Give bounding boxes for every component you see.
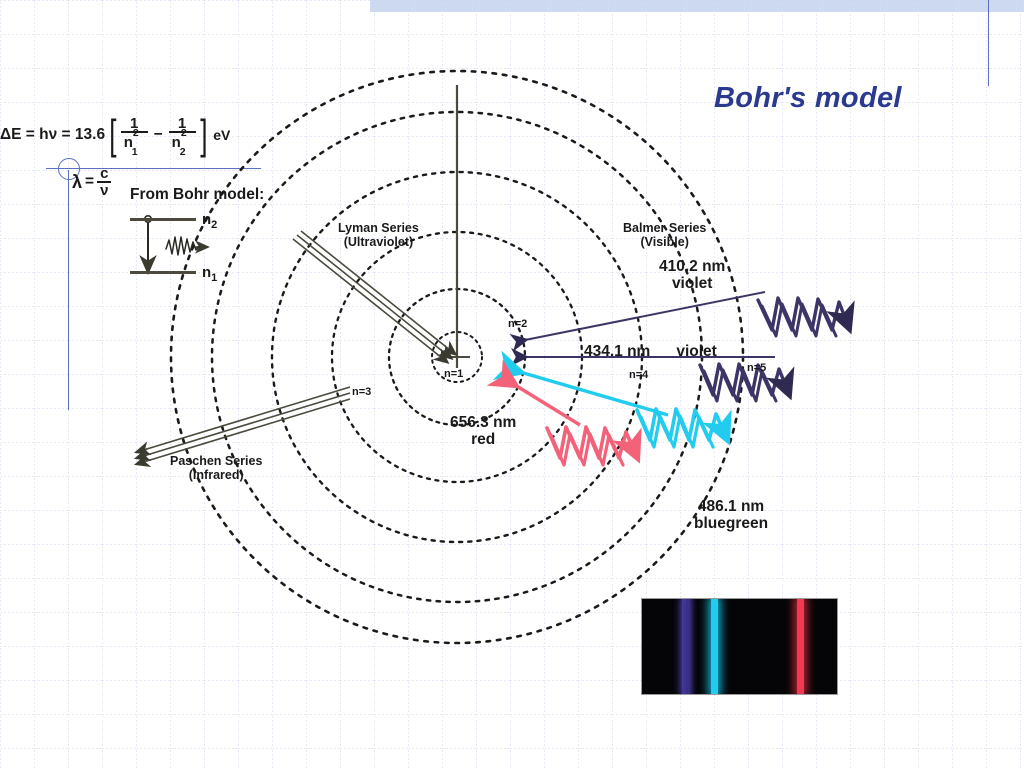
- hydrogen-emission-spectrum: [641, 598, 838, 695]
- minus-operator: −: [150, 126, 167, 144]
- transition-line-410: [525, 292, 765, 340]
- energy-equation: ΔE = hν = 13.6 [ 1 n21 − 1 n22 ] eV: [0, 116, 230, 154]
- photon-wave-656: [547, 427, 637, 465]
- series-label-lyman-paren: (Ultraviolet): [338, 235, 419, 249]
- bohr-formula-block: From Bohr model:: [108, 186, 398, 376]
- series-label-lyman-name: Lyman Series: [338, 221, 419, 235]
- series-label-paschen-paren: (Infrared): [170, 468, 262, 482]
- transition-line-656: [515, 385, 580, 425]
- level-line-lower: [130, 271, 196, 274]
- spectrum-line-red: [797, 599, 804, 694]
- slide-canvas: Bohr's model From Bohr model: n2 n1 ΔE =…: [0, 0, 1024, 768]
- level-label-n1: n1: [202, 264, 217, 284]
- level-label-n2-base: n: [202, 211, 211, 228]
- transition-label-410: 410.2 nm violet: [659, 258, 725, 293]
- lambda-denominator: ν: [97, 181, 111, 198]
- transition-label-434: 434.1 nmviolet: [584, 343, 717, 360]
- spectrum-line-indigo: [686, 599, 690, 694]
- photon-wave-410: [758, 298, 849, 336]
- paschen-series-arrows: [137, 387, 350, 464]
- lambda-symbol: λ: [72, 172, 82, 193]
- orbit-label-n5: n=5: [747, 362, 766, 374]
- series-label-paschen: Paschen Series (Infrared): [170, 454, 262, 482]
- series-label-lyman: Lyman Series (Ultraviolet): [338, 221, 419, 249]
- transition-label-486: 486.1 nm bluegreen: [694, 498, 768, 533]
- term-1-fraction: 1 n21: [121, 116, 148, 154]
- lambda-equals: =: [85, 173, 94, 191]
- series-label-balmer: Balmer Series (Visible): [623, 221, 706, 249]
- orbit-label-n1: n=1: [444, 368, 463, 380]
- series-label-balmer-paren: (Visible): [623, 235, 706, 249]
- transition-410-color: violet: [659, 275, 725, 292]
- energy-units: eV: [211, 127, 230, 143]
- transition-486-color: bluegreen: [694, 515, 768, 532]
- level-line-upper: [130, 218, 196, 221]
- page-title: Bohr's model: [714, 82, 902, 115]
- transition-label-656: 656.3 nm red: [450, 414, 516, 449]
- photon-wave-486: [637, 409, 727, 447]
- orbit-label-n4: n=4: [629, 369, 648, 381]
- transition-656-wavelength: 656.3 nm: [450, 414, 516, 431]
- photon-wave-434: [700, 364, 789, 401]
- formula-heading: From Bohr model:: [130, 186, 264, 204]
- term-1-den-sup: 2: [133, 127, 139, 139]
- level-label-n2-sub: 2: [211, 219, 217, 231]
- transition-486-wavelength: 486.1 nm: [694, 498, 768, 515]
- lambda-fraction: c ν: [97, 166, 111, 199]
- transition-434-wavelength: 434.1 nm: [584, 343, 650, 360]
- term-1-den-sub: 1: [132, 146, 138, 158]
- transition-410-wavelength: 410.2 nm: [659, 258, 725, 275]
- term-2-den-sup: 2: [181, 127, 187, 139]
- level-label-n1-sub: 1: [211, 272, 217, 284]
- term-2-fraction: 1 n22: [169, 116, 196, 154]
- series-label-paschen-name: Paschen Series: [170, 454, 262, 468]
- orbit-label-n2: n=2: [508, 318, 527, 330]
- series-label-balmer-name: Balmer Series: [623, 221, 706, 235]
- wavelength-equation: λ = c ν: [72, 166, 111, 199]
- transition-656-color: red: [450, 431, 516, 448]
- level-label-n2: n2: [202, 211, 217, 231]
- term-1-denominator: n21: [121, 131, 148, 154]
- orbit-label-n3: n=3: [352, 386, 371, 398]
- bracket-open: [: [109, 118, 116, 152]
- term-2-den-sub: 2: [180, 146, 186, 158]
- bracket-close: ]: [200, 118, 207, 152]
- spectrum-line-bluegreen: [711, 599, 718, 694]
- transition-434-color: violet: [676, 343, 716, 360]
- lambda-numerator: c: [97, 166, 111, 181]
- term-2-denominator: n22: [169, 131, 196, 154]
- energy-equation-lhs: ΔE = hν = 13.6: [0, 126, 105, 144]
- level-label-n1-base: n: [202, 264, 211, 281]
